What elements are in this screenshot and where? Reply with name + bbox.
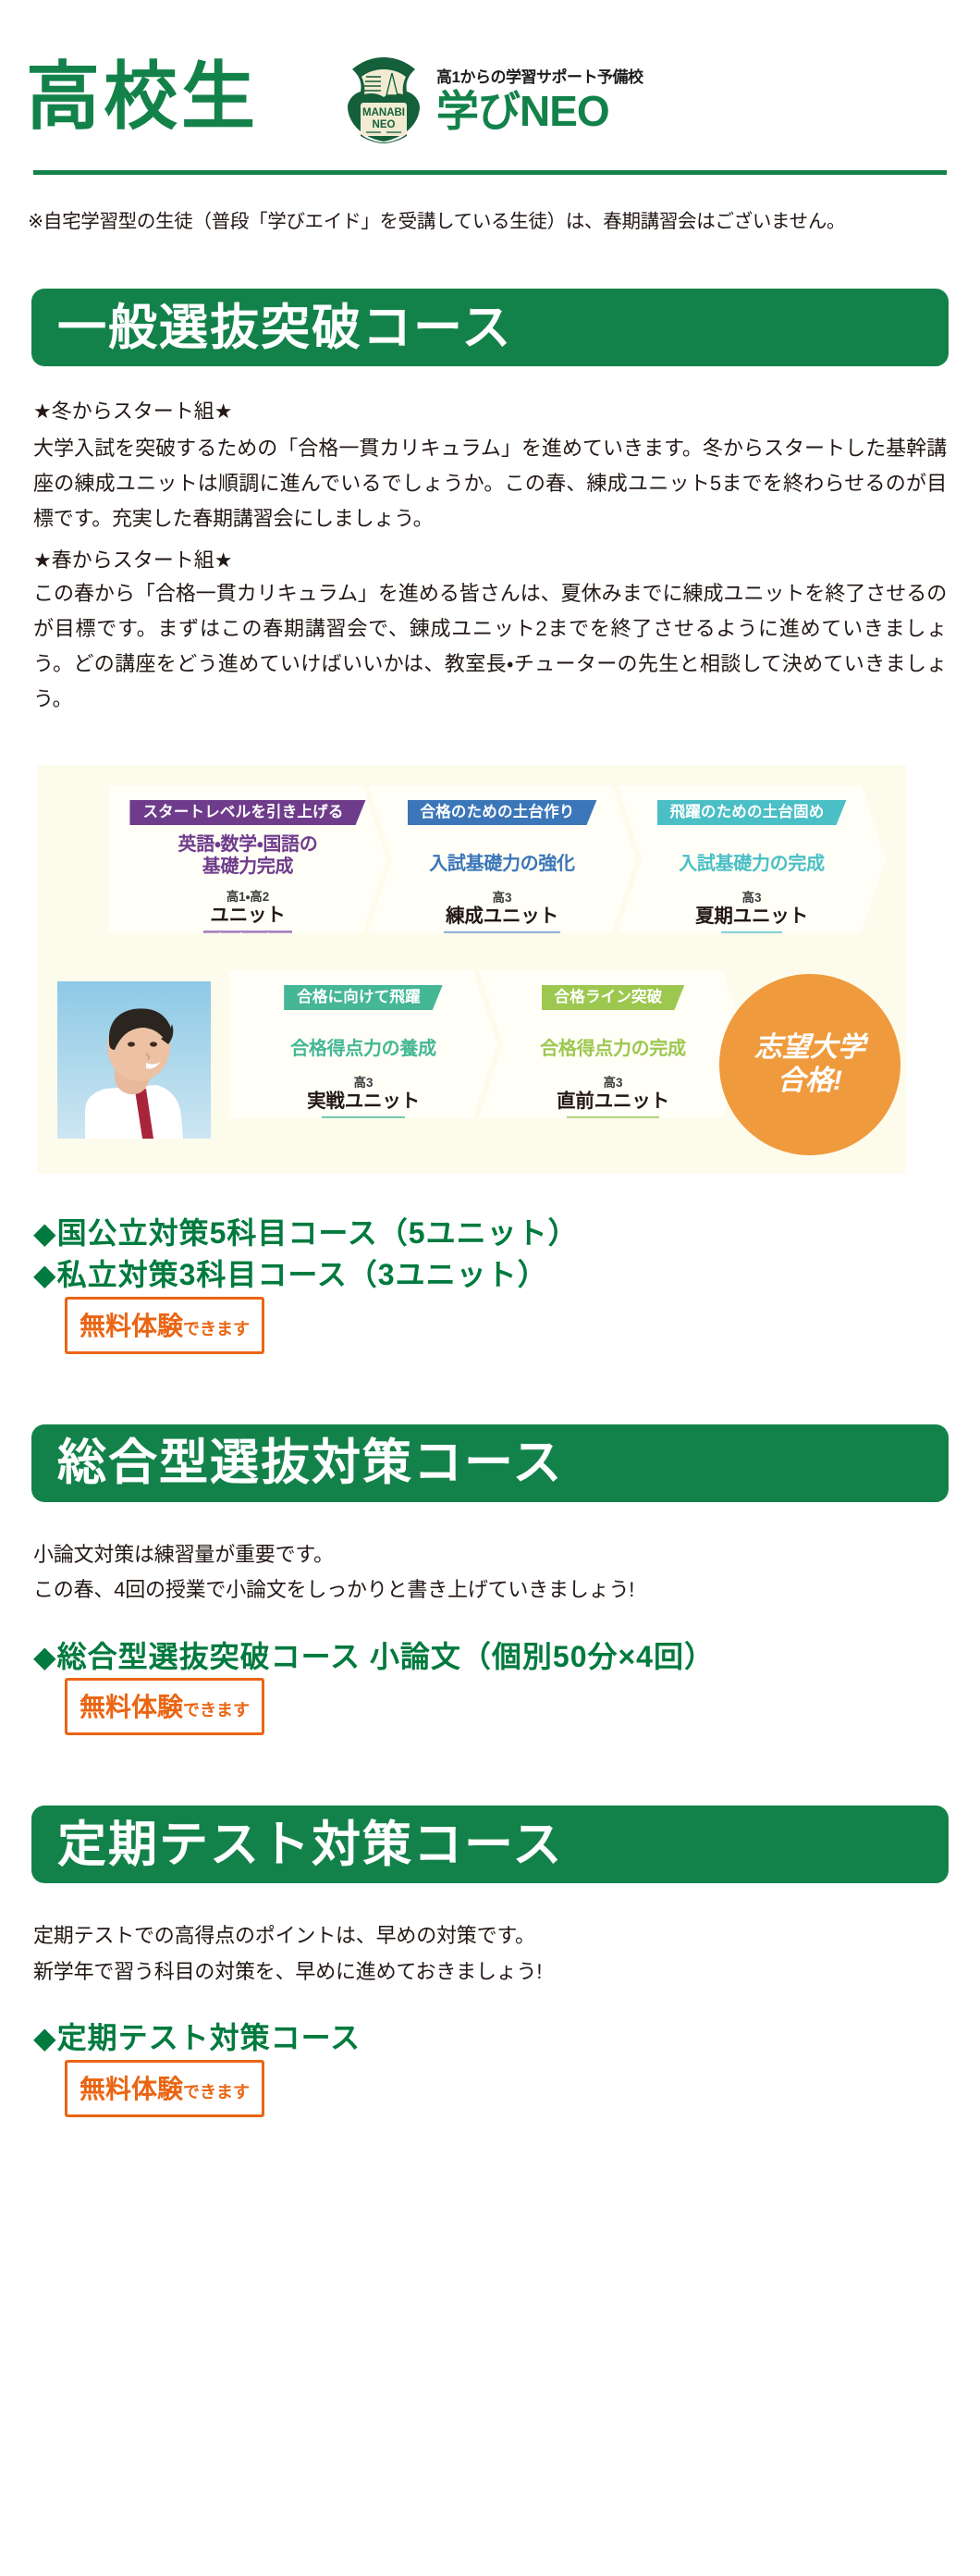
section-header-regular-test: 定期テスト対策コース — [31, 1806, 949, 1883]
free-trial-button-regular-test[interactable]: 無料体験 できます — [65, 2060, 264, 2117]
flow-step-4-period-badge: 9月〜12月 — [322, 1116, 405, 1139]
flow-step-5-grade: 高3 — [603, 1077, 622, 1090]
curriculum-flow-diagram: スタートレベルを引き上げる 英語・数学・国語の 基礎力完成 高1・高2 ユニット… — [37, 765, 906, 1174]
paragraph-winter-start: 大学入試を突破するための「合格一貫カリキュラム」を進めていきます。冬からスタート… — [33, 431, 947, 536]
flow-step-4-grade: 高3 — [353, 1077, 373, 1090]
flow-step-5-headline: 合格得点力の完成 — [540, 1038, 686, 1060]
section-body-general-selection: ★冬からスタート組★ 大学入試を突破するための「合格一貫カリキュラム」を進めてい… — [33, 401, 947, 717]
brand-tagline: 高1からの学習サポート予備校 — [436, 64, 643, 87]
flow-step-3-unit: 夏期ユニット — [695, 906, 808, 927]
free-trial-label-main: 無料体験 — [80, 1306, 183, 1343]
page-root: 高校生 MANABI NEO — [0, 0, 980, 2117]
flow-step-1-period-badge: 高1春〜高2 — [203, 931, 292, 953]
header-divider — [33, 170, 947, 175]
free-trial-button-general[interactable]: 無料体験 できます — [65, 1297, 264, 1354]
intro-line-1: 小論文対策は練習量が重要です。 — [33, 1537, 947, 1573]
flow-step-3-headline: 入試基礎力の完成 — [679, 853, 825, 875]
svg-text:NEO: NEO — [373, 119, 396, 130]
flow-step-3-period-badge: 夏休み — [721, 931, 782, 954]
flow-step-1: スタートレベルを引き上げる 英語・数学・国語の 基礎力完成 高1・高2 ユニット… — [109, 785, 386, 933]
flow-step-4-tag: 合格に向けて飛躍 — [284, 985, 443, 1010]
free-trial-label-main: 無料体験 — [80, 1687, 183, 1724]
flow-step-4-headline: 合格得点力の養成 — [290, 1038, 436, 1060]
flow-step-5-unit: 直前ユニット — [557, 1091, 669, 1112]
course-list-comprehensive-selection: ◆総合型選抜突破コース 小論文（個別50分×4回） 無料体験 できます — [33, 1636, 947, 1735]
flow-step-2-tag: 合格のための土台作り — [408, 800, 597, 825]
intro-line-2: 新学年で習う科目の対策を、早めに進めておきましょう! — [33, 1954, 947, 1991]
subhead-winter-start: ★冬からスタート組★ — [33, 401, 947, 422]
course-item-national-public[interactable]: ◆国公立対策5科目コース（5ユニット） — [33, 1213, 947, 1254]
section-body-comprehensive-selection: 小論文対策は練習量が重要です。 この春、4回の授業で小論文をしっかりと書き上げて… — [33, 1537, 947, 1608]
flow-step-2-period-badge: 高2冬休み〜8月 — [444, 931, 559, 954]
brand-name: 学びNEO — [436, 89, 643, 133]
section-body-regular-test: 定期テストでの高得点のポイントは、早めの対策です。 新学年で習う科目の対策を、早… — [33, 1918, 947, 1990]
flow-step-3: 飛躍のための土台固め 入試基礎力の完成 高3 夏期ユニット 夏休み — [618, 785, 886, 933]
free-trial-label-sub: できます — [183, 1316, 250, 1340]
section-title: 一般選抜突破コース — [57, 303, 512, 352]
flow-step-1-headline: 英語・数学・国語の 基礎力完成 — [178, 833, 318, 878]
course-list-general-selection: ◆国公立対策5科目コース（5ユニット） ◆私立対策3科目コース（3ユニット） 無… — [33, 1213, 947, 1354]
student-photo — [57, 981, 211, 1139]
section-header-comprehensive-selection: 総合型選抜対策コース — [31, 1424, 949, 1502]
course-item-regular-test[interactable]: ◆定期テスト対策コース — [33, 2017, 947, 2059]
flow-step-3-grade: 高3 — [741, 892, 761, 905]
goal-label: 志望大学 合格! — [754, 1031, 865, 1098]
free-trial-label-main: 無料体験 — [80, 2069, 183, 2106]
flow-step-2-headline: 入試基礎力の強化 — [429, 853, 575, 875]
section-title: 総合型選抜対策コース — [57, 1438, 563, 1487]
brand-logo: MANABI NEO 高1からの学習サポート予備校 学びNEO — [344, 55, 643, 143]
page-header: 高校生 MANABI NEO — [0, 0, 980, 157]
flow-step-3-tag: 飛躍のための土台固め — [657, 800, 847, 825]
subhead-spring-start: ★春からスタート組★ — [33, 550, 947, 571]
free-trial-label-sub: できます — [183, 1697, 250, 1721]
flow-step-2: 合格のための土台作り 入試基礎力の強化 高3 練成ユニット 高2冬休み〜8月 — [368, 785, 636, 933]
goal-badge: 志望大学 合格! — [719, 974, 900, 1155]
free-trial-label-sub: できます — [183, 2079, 250, 2103]
course-list-regular-test: ◆定期テスト対策コース 無料体験 できます — [33, 2017, 947, 2116]
flow-step-5: 合格ライン突破 合格得点力の完成 高3 直前ユニット 冬休み・直前 — [479, 970, 747, 1118]
svg-text:MANABI: MANABI — [362, 107, 405, 118]
course-item-comprehensive-essay[interactable]: ◆総合型選抜突破コース 小論文（個別50分×4回） — [33, 1636, 947, 1678]
eligibility-note: ※自宅学習型の生徒（普段「学びエイド」を受講している生徒）は、春期講習会はござい… — [28, 205, 952, 233]
intro-line-1: 定期テストでの高得点のポイントは、早めの対策です。 — [33, 1918, 947, 1954]
page-title: 高校生 — [26, 60, 259, 134]
flow-step-1-unit: ユニット — [210, 906, 285, 926]
flow-step-1-tag: スタートレベルを引き上げる — [129, 800, 365, 825]
flow-step-4: 合格に向けて飛躍 合格得点力の養成 高3 実戦ユニット 9月〜12月 — [229, 970, 497, 1118]
section-title: 定期テスト対策コース — [57, 1820, 563, 1869]
intro-line-2: この春、4回の授業で小論文をしっかりと書き上げていきましょう! — [33, 1572, 947, 1608]
flow-step-2-grade: 高3 — [492, 892, 511, 905]
flow-row-upper: スタートレベルを引き上げる 英語・数学・国語の 基礎力完成 高1・高2 ユニット… — [37, 785, 906, 933]
free-trial-button-comprehensive[interactable]: 無料体験 できます — [65, 1678, 264, 1735]
course-item-private[interactable]: ◆私立対策3科目コース（3ユニット） — [33, 1254, 947, 1296]
section-header-general-selection: 一般選抜突破コース — [31, 289, 949, 366]
flow-step-5-period-badge: 冬休み・直前 — [567, 1116, 658, 1139]
manabi-neo-crest-icon: MANABI NEO — [344, 55, 423, 143]
paragraph-spring-start: この春から「合格一貫カリキュラム」を進める皆さんは、夏休みまでに練成ユニットを終… — [33, 576, 947, 716]
flow-step-5-tag: 合格ライン突破 — [542, 985, 685, 1010]
flow-step-4-unit: 実戦ユニット — [307, 1091, 420, 1112]
flow-row-lower: 合格に向けて飛躍 合格得点力の養成 高3 実戦ユニット 9月〜12月 合格ライン… — [37, 970, 906, 1118]
flow-step-1-grade: 高1・高2 — [227, 891, 270, 904]
flow-step-2-unit: 練成ユニット — [446, 906, 558, 927]
